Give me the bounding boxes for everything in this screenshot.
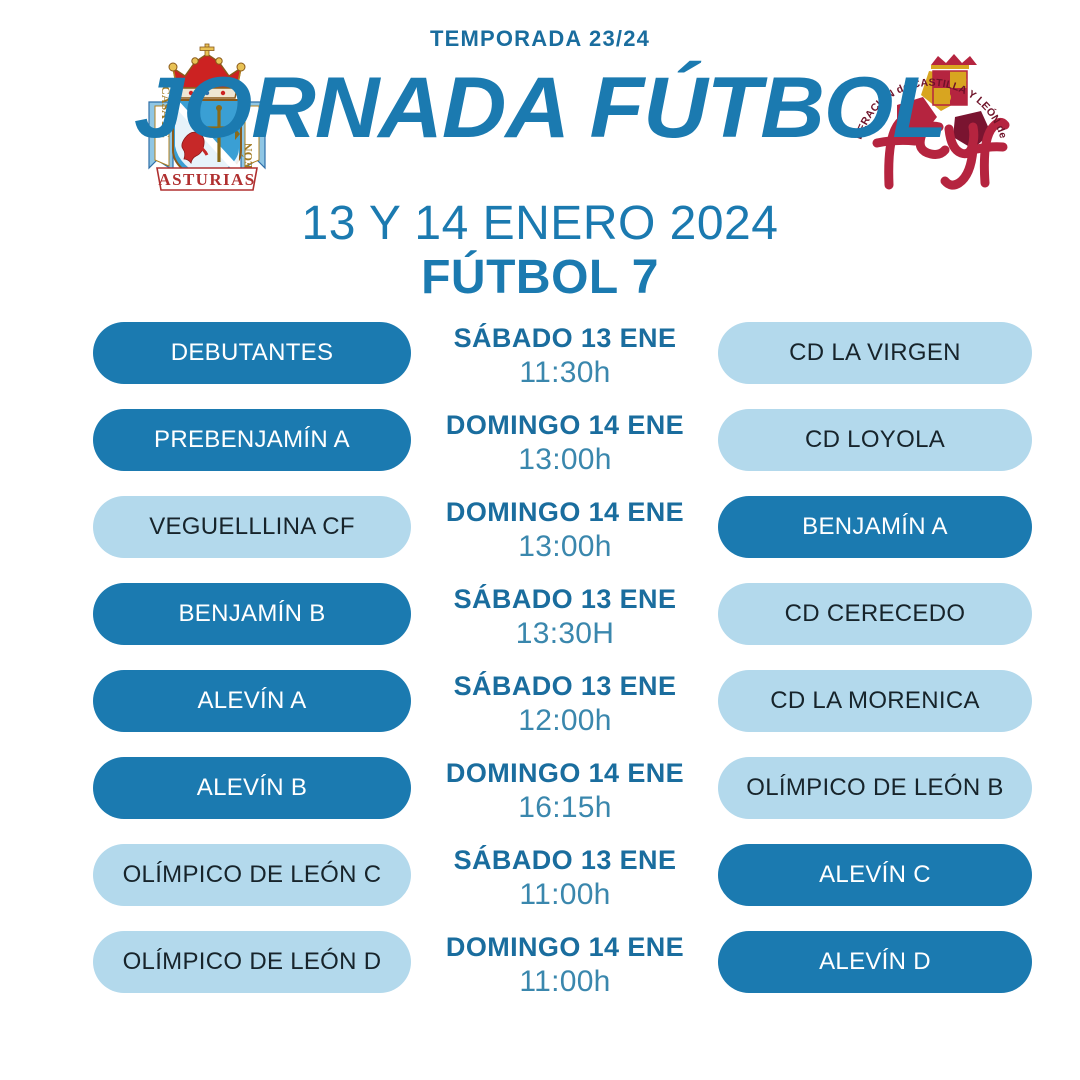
- match-datetime: SÁBADO 13 ENE12:00h: [415, 664, 715, 739]
- home-team-pill[interactable]: OLÍMPICO DE LEÓN C: [93, 844, 411, 906]
- match-datetime: DOMINGO 14 ENE13:00h: [415, 403, 715, 478]
- away-team-pill[interactable]: OLÍMPICO DE LEÓN B: [718, 757, 1032, 819]
- category-label: FÚTBOL 7: [0, 250, 1080, 306]
- dateline: 13 Y 14 ENERO 2024: [0, 196, 1080, 252]
- match-row: DEBUTANTESSÁBADO 13 ENE11:30hCD LA VIRGE…: [0, 316, 1080, 403]
- away-team-pill[interactable]: CD LA MORENICA: [718, 670, 1032, 732]
- match-datetime: SÁBADO 13 ENE11:30h: [415, 316, 715, 391]
- crest-banner-text: ASTURIAS: [158, 170, 255, 189]
- match-row: OLÍMPICO DE LEÓN CSÁBADO 13 ENE11:00hALE…: [0, 838, 1080, 925]
- away-team-pill[interactable]: BENJAMÍN A: [718, 496, 1032, 558]
- match-row: PREBENJAMÍN ADOMINGO 14 ENE13:00hCD LOYO…: [0, 403, 1080, 490]
- poster-header: CASA DE LEÓN ASTURIAS: [0, 0, 1080, 308]
- match-datetime: SÁBADO 13 ENE13:30H: [415, 577, 715, 652]
- match-list: DEBUTANTESSÁBADO 13 ENE11:30hCD LA VIRGE…: [0, 316, 1080, 1012]
- match-row: ALEVÍN ASÁBADO 13 ENE12:00hCD LA MORENIC…: [0, 664, 1080, 751]
- away-team-pill[interactable]: CD LOYOLA: [718, 409, 1032, 471]
- home-team-pill[interactable]: DEBUTANTES: [93, 322, 411, 384]
- away-team-pill[interactable]: CD CERECEDO: [718, 583, 1032, 645]
- match-datetime: SÁBADO 13 ENE11:00h: [415, 838, 715, 913]
- home-team-pill[interactable]: VEGUELLLINA CF: [93, 496, 411, 558]
- match-day: SÁBADO 13 ENE: [415, 669, 715, 703]
- match-day: SÁBADO 13 ENE: [415, 582, 715, 616]
- match-datetime: DOMINGO 14 ENE11:00h: [415, 925, 715, 1000]
- match-row: VEGUELLLINA CFDOMINGO 14 ENE13:00hBENJAM…: [0, 490, 1080, 577]
- match-time: 12:00h: [415, 703, 715, 739]
- home-team-pill[interactable]: ALEVÍN B: [93, 757, 411, 819]
- season-label: TEMPORADA 23/24: [0, 26, 1080, 52]
- match-datetime: DOMINGO 14 ENE16:15h: [415, 751, 715, 826]
- match-day: DOMINGO 14 ENE: [415, 408, 715, 442]
- home-team-pill[interactable]: OLÍMPICO DE LEÓN D: [93, 931, 411, 993]
- match-day: DOMINGO 14 ENE: [415, 930, 715, 964]
- page-title: JORNADA FÚTBOL: [0, 62, 1080, 154]
- match-time: 11:00h: [415, 964, 715, 1000]
- away-team-pill[interactable]: ALEVÍN C: [718, 844, 1032, 906]
- match-day: DOMINGO 14 ENE: [415, 756, 715, 790]
- match-time: 13:00h: [415, 529, 715, 565]
- match-row: OLÍMPICO DE LEÓN DDOMINGO 14 ENE11:00hAL…: [0, 925, 1080, 1012]
- match-row: BENJAMÍN BSÁBADO 13 ENE13:30HCD CERECEDO: [0, 577, 1080, 664]
- away-team-pill[interactable]: ALEVÍN D: [718, 931, 1032, 993]
- away-team-pill[interactable]: CD LA VIRGEN: [718, 322, 1032, 384]
- match-time: 11:30h: [415, 355, 715, 391]
- home-team-pill[interactable]: ALEVÍN A: [93, 670, 411, 732]
- match-datetime: DOMINGO 14 ENE13:00h: [415, 490, 715, 565]
- match-time: 11:00h: [415, 877, 715, 913]
- match-time: 13:00h: [415, 442, 715, 478]
- match-day: DOMINGO 14 ENE: [415, 495, 715, 529]
- match-day: SÁBADO 13 ENE: [415, 843, 715, 877]
- match-time: 13:30H: [415, 616, 715, 652]
- match-day: SÁBADO 13 ENE: [415, 321, 715, 355]
- home-team-pill[interactable]: BENJAMÍN B: [93, 583, 411, 645]
- home-team-pill[interactable]: PREBENJAMÍN A: [93, 409, 411, 471]
- match-time: 16:15h: [415, 790, 715, 826]
- match-row: ALEVÍN BDOMINGO 14 ENE16:15hOLÍMPICO DE …: [0, 751, 1080, 838]
